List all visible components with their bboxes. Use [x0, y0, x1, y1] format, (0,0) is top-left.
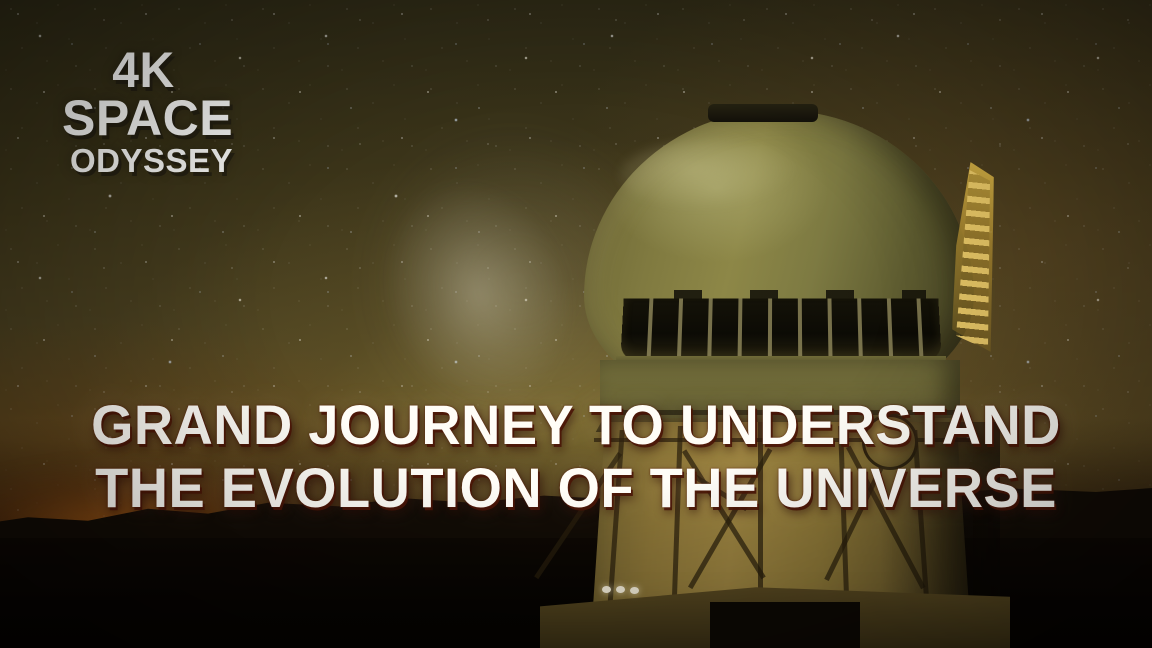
logo-line-odyssey: ODYSSEY: [70, 145, 322, 177]
observatory-building: [560, 110, 1000, 610]
channel-logo: 4K SPACE ODYSSEY: [62, 46, 322, 177]
title-line-2: THE EVOLUTION OF THE UNIVERSE: [17, 459, 1134, 516]
dome-highlight: [620, 140, 800, 210]
base-lamp: [616, 586, 625, 593]
thumbnail-scene: 4K SPACE ODYSSEY GRAND JOURNEY TO UNDERS…: [0, 0, 1152, 648]
window-mullions: [620, 298, 941, 360]
base-lamp: [602, 586, 611, 593]
building-doorway: [710, 602, 860, 648]
dome-window-band: [620, 298, 941, 360]
logo-line-space: SPACE: [62, 94, 322, 142]
dome-top-cap: [708, 104, 818, 122]
thumbnail-title: GRAND JOURNEY TO UNDERSTAND THE EVOLUTIO…: [0, 396, 1152, 516]
base-lamp: [630, 587, 639, 594]
title-line-1: GRAND JOURNEY TO UNDERSTAND: [17, 396, 1134, 453]
logo-line-4k: 4K: [112, 46, 317, 94]
